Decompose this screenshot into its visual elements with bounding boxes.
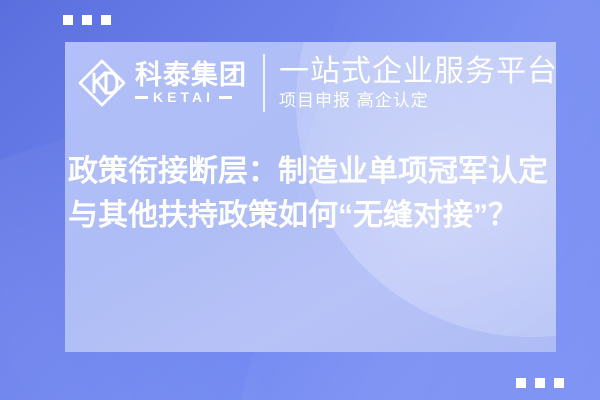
header-divider (263, 54, 265, 112)
rule-left-icon (135, 96, 148, 99)
page-title: 政策衔接断层：制造业单项冠军认定与其他扶持政策如何“无缝对接”？ (68, 150, 556, 238)
content-card: 科泰集团 KETAI 一站式企业服务平台 项目申报 高企认定 政策衔接断层：制造… (65, 42, 556, 352)
brand-name-en: KETAI (153, 90, 214, 104)
logo-lockup[interactable]: 科泰集团 KETAI (77, 58, 247, 108)
slogan-block: 一站式企业服务平台 项目申报 高企认定 (279, 55, 556, 111)
square-dot-icon (63, 15, 73, 25)
ketai-diamond-kd-logo-icon (77, 58, 127, 108)
rule-right-icon (219, 96, 232, 99)
poster-canvas: 科泰集团 KETAI 一站式企业服务平台 项目申报 高企认定 政策衔接断层：制造… (0, 0, 600, 400)
logo-wordmark: 科泰集团 KETAI (135, 62, 247, 105)
square-dot-icon (82, 15, 92, 25)
brand-header: 科泰集团 KETAI 一站式企业服务平台 项目申报 高企认定 (65, 42, 556, 124)
slogan-secondary: 项目申报 高企认定 (279, 90, 556, 111)
square-dot-icon (101, 15, 111, 25)
brand-name-cn: 科泰集团 (135, 62, 247, 90)
square-dot-icon (516, 378, 526, 388)
square-dot-icon (535, 378, 545, 388)
decorative-dots-bottom-right (516, 378, 564, 388)
square-dot-icon (554, 378, 564, 388)
slogan-primary: 一站式企业服务平台 (279, 55, 556, 88)
brand-name-en-row: KETAI (135, 90, 247, 104)
decorative-dots-top-left (63, 15, 111, 25)
